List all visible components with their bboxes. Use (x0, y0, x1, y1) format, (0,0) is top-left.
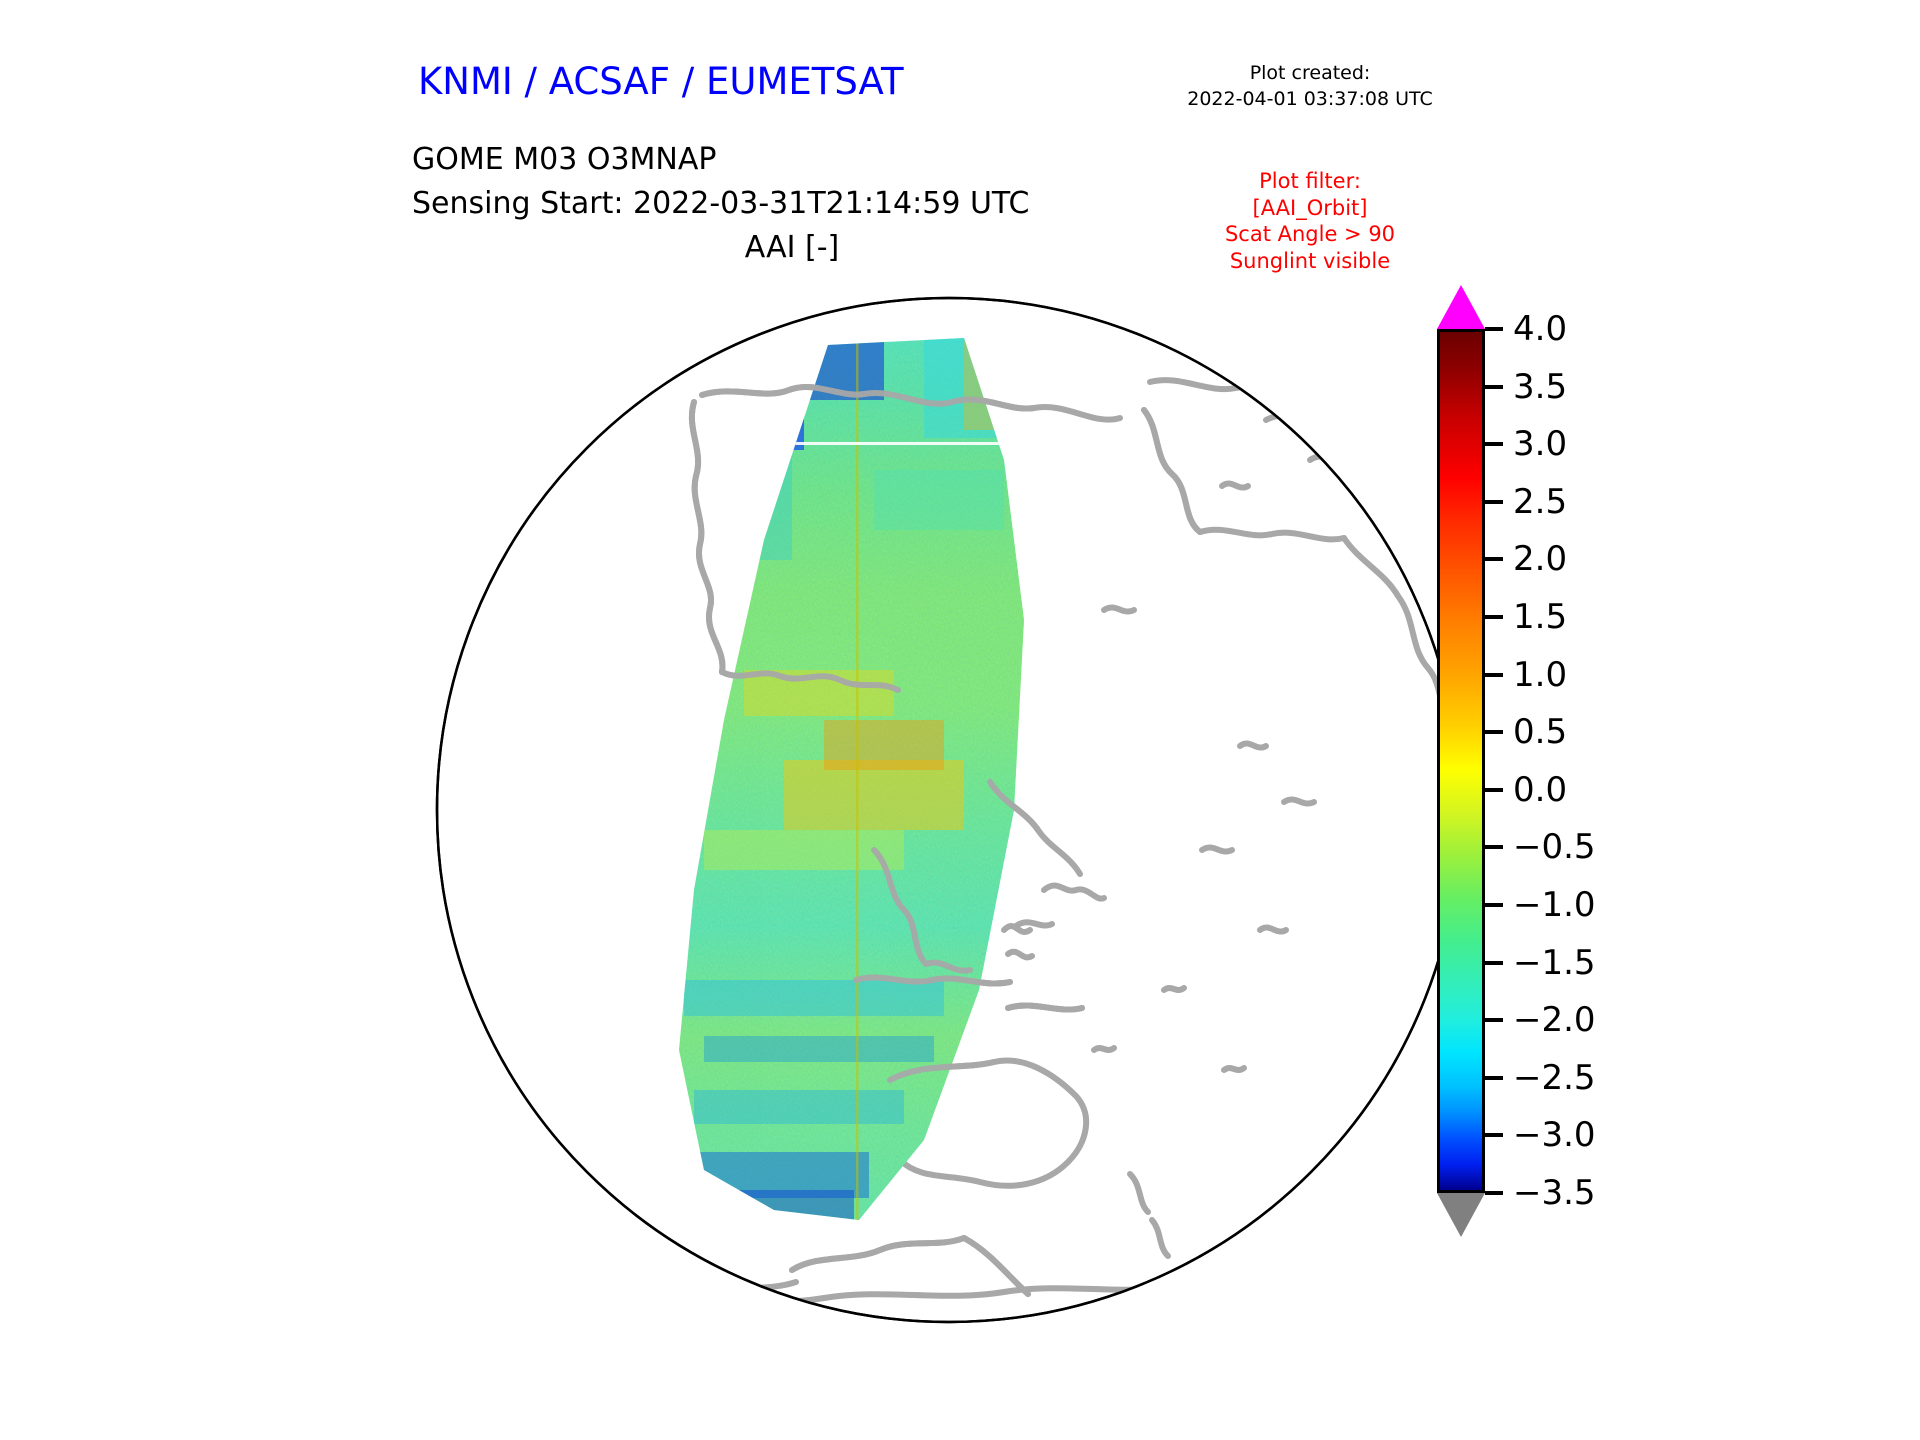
plot-created-timestamp: 2022-04-01 03:37:08 UTC (1160, 86, 1460, 112)
colorbar[interactable]: 4.03.53.02.52.01.51.00.50.0−0.5−1.0−1.5−… (1437, 285, 1857, 1335)
colorbar-tick-label: −2.5 (1513, 1058, 1596, 1098)
colorbar-tick-mark (1485, 845, 1503, 849)
colorbar-tick-label: 4.0 (1513, 309, 1567, 349)
plot-filter-line-3: Sunglint visible (1180, 248, 1440, 275)
colorbar-tick-mark (1485, 1133, 1503, 1137)
colorbar-tick-label: 0.0 (1513, 770, 1567, 810)
colorbar-tick-mark (1485, 1076, 1503, 1080)
plot-filter-line-1: [AAI_Orbit] (1180, 195, 1440, 222)
colorbar-tick-mark (1485, 673, 1503, 677)
colorbar-tick-mark (1485, 327, 1503, 331)
quantity-title: AAI [-] (412, 230, 1172, 265)
colorbar-tick-label: −3.5 (1513, 1173, 1596, 1213)
colorbar-tick-mark (1485, 557, 1503, 561)
plot-filter-line-2: Scat Angle > 90 (1180, 221, 1440, 248)
colorbar-tick-label: 1.0 (1513, 655, 1567, 695)
colorbar-tick-label: −1.0 (1513, 885, 1596, 925)
plot-filter-block: Plot filter: [AAI_Orbit] Scat Angle > 90… (1180, 168, 1440, 274)
plot-created-label: Plot created: (1160, 60, 1460, 86)
colorbar-tick-label: 1.5 (1513, 597, 1567, 637)
colorbar-tick-label: −1.5 (1513, 943, 1596, 983)
colorbar-tick-mark (1485, 788, 1503, 792)
colorbar-tick-label: −3.0 (1513, 1115, 1596, 1155)
sensing-start: Sensing Start: 2022-03-31T21:14:59 UTC (412, 182, 1029, 226)
colorbar-tick-label: 3.5 (1513, 367, 1567, 407)
plot-filter-line-0: Plot filter: (1180, 168, 1440, 195)
colorbar-tick-mark (1485, 961, 1503, 965)
colorbar-tick-mark (1485, 730, 1503, 734)
colorbar-under-arrow (1437, 1193, 1485, 1237)
colorbar-tick-mark (1485, 1018, 1503, 1022)
globe-map[interactable] (404, 290, 1494, 1330)
colorbar-tick-mark (1485, 385, 1503, 389)
colorbar-gradient[interactable] (1437, 329, 1485, 1193)
colorbar-tick-label: 0.5 (1513, 712, 1567, 752)
colorbar-tick-label: 3.0 (1513, 424, 1567, 464)
dataset-name: GOME M03 O3MNAP (412, 138, 1029, 182)
colorbar-tick-label: 2.5 (1513, 482, 1567, 522)
colorbar-tick-label: −2.0 (1513, 1000, 1596, 1040)
dataset-info-block: GOME M03 O3MNAP Sensing Start: 2022-03-3… (412, 138, 1029, 226)
plot-created-block: Plot created: 2022-04-01 03:37:08 UTC (1160, 60, 1460, 112)
colorbar-tick-label: 2.0 (1513, 539, 1567, 579)
colorbar-tick-mark (1485, 1191, 1503, 1195)
colorbar-tick-mark (1485, 500, 1503, 504)
map-panel[interactable] (404, 290, 1494, 1330)
colorbar-tick-mark (1485, 442, 1503, 446)
page-title-organisation: KNMI / ACSAF / EUMETSAT (418, 60, 904, 103)
colorbar-tick-label: −0.5 (1513, 827, 1596, 867)
colorbar-tick-mark (1485, 903, 1503, 907)
colorbar-tick-mark (1485, 615, 1503, 619)
colorbar-over-arrow (1437, 285, 1485, 329)
